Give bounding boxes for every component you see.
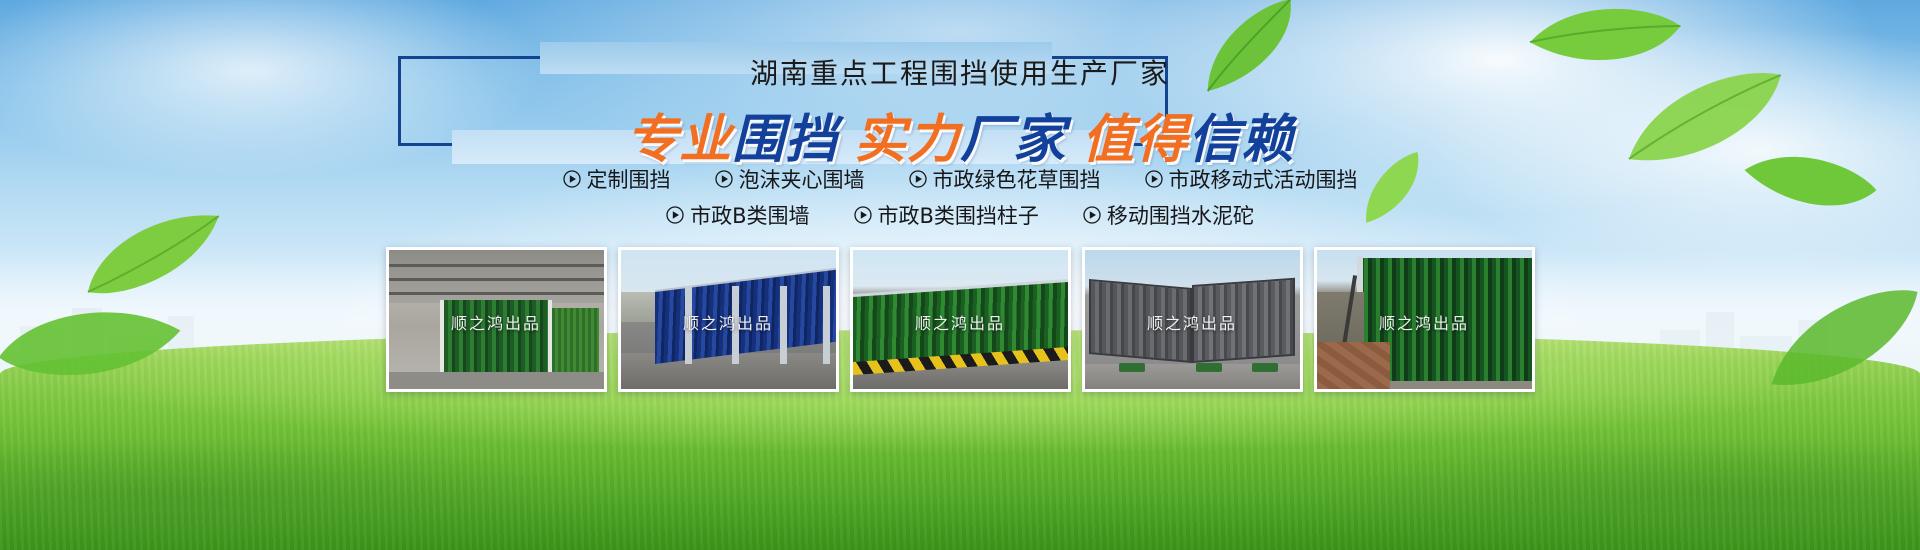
product-photo[interactable]: 顺之鸿出品	[850, 247, 1071, 392]
feature-row-2: 市政B类围墙 市政B类围挡柱子 移动围挡水泥砣	[0, 200, 1920, 230]
product-photo[interactable]: 顺之鸿出品	[618, 247, 839, 392]
feature-item[interactable]: 市政B类围墙	[660, 200, 815, 230]
hero-banner: 湖南重点工程围挡使用生产厂家 专业围挡实力厂家值得信赖 定制围挡 泡沫夹心围墙 …	[0, 0, 1920, 550]
play-icon	[715, 170, 733, 188]
feature-item-label: 市政B类围墙	[690, 200, 809, 230]
play-icon	[1145, 170, 1163, 188]
product-photo[interactable]: 顺之鸿出品	[1314, 247, 1535, 392]
photo-watermark: 顺之鸿出品	[1085, 310, 1300, 334]
headline-part-2: 围挡	[732, 110, 838, 170]
feature-item-label: 市政B类围挡柱子	[878, 200, 1039, 230]
photo-watermark: 顺之鸿出品	[621, 310, 836, 334]
feature-item[interactable]: 市政绿色花草围挡	[903, 164, 1107, 194]
feature-item[interactable]: 定制围挡	[557, 164, 677, 194]
feature-item-label: 移动围挡水泥砣	[1107, 200, 1254, 230]
feature-item-label: 泡沫夹心围墙	[739, 164, 865, 194]
banner-headline: 专业围挡实力厂家值得信赖	[0, 97, 1920, 172]
play-icon	[909, 170, 927, 188]
feature-item-label: 市政移动式活动围挡	[1169, 164, 1358, 194]
headline-part-4: 厂家	[960, 110, 1066, 170]
headline-part-5: 值得	[1082, 110, 1188, 170]
product-photo[interactable]: 顺之鸿出品	[386, 247, 607, 392]
headline-part-6: 信赖	[1188, 110, 1294, 170]
headline-part-1: 专业	[626, 110, 732, 170]
feature-item[interactable]: 移动围挡水泥砣	[1077, 200, 1260, 230]
feature-item[interactable]: 市政B类围挡柱子	[848, 200, 1045, 230]
product-photo[interactable]: 顺之鸿出品	[1082, 247, 1303, 392]
feature-item-label: 市政绿色花草围挡	[933, 164, 1101, 194]
feature-item[interactable]: 市政移动式活动围挡	[1139, 164, 1364, 194]
feature-row-1: 定制围挡 泡沫夹心围墙 市政绿色花草围挡 市政移动式活动围挡	[0, 164, 1920, 194]
photo-watermark: 顺之鸿出品	[389, 310, 604, 334]
play-icon	[666, 206, 684, 224]
feature-list: 定制围挡 泡沫夹心围墙 市政绿色花草围挡 市政移动式活动围挡 市政B类围墙	[0, 164, 1920, 236]
feature-item-label: 定制围挡	[587, 164, 671, 194]
banner-subtitle: 湖南重点工程围挡使用生产厂家	[0, 52, 1920, 92]
photo-watermark: 顺之鸿出品	[853, 310, 1068, 334]
play-icon	[1083, 206, 1101, 224]
feature-item[interactable]: 泡沫夹心围墙	[709, 164, 871, 194]
photo-watermark: 顺之鸿出品	[1317, 310, 1532, 334]
product-photo-strip: 顺之鸿出品 顺之鸿出品 顺之鸿出品	[0, 247, 1920, 392]
play-icon	[563, 170, 581, 188]
headline-part-3: 实力	[854, 110, 960, 170]
play-icon	[854, 206, 872, 224]
